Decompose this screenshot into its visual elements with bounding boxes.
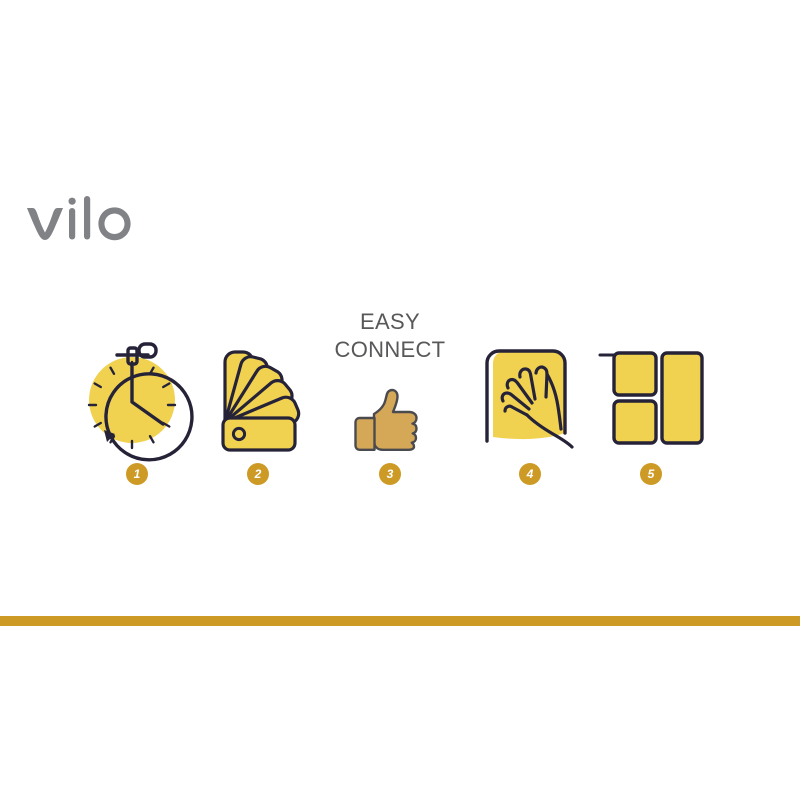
panel-layout-icon	[596, 345, 706, 450]
color-swatch-fan-icon	[203, 330, 313, 450]
thumbs-up-art	[325, 300, 455, 450]
feature-step-5: 5	[586, 300, 716, 500]
color-swatch-art	[193, 300, 323, 450]
step-badge-5: 5	[640, 463, 662, 485]
feature-steps-strip: 1	[70, 300, 730, 500]
stopwatch-art	[72, 300, 202, 450]
step-badge-2: 2	[247, 463, 269, 485]
vilo-wordmark-icon	[24, 196, 194, 256]
feature-step-4: 4	[465, 300, 595, 500]
hand-wipe-art	[465, 300, 595, 450]
feature-step-1: 1	[72, 300, 202, 500]
stopwatch-icon	[82, 330, 192, 450]
hand-wipe-icon	[475, 345, 585, 450]
feature-step-2: 2	[193, 300, 323, 500]
gold-accent-bar	[0, 616, 800, 626]
panel-layout-art	[586, 300, 716, 450]
feature-step-3: EASY CONNECT 3	[325, 300, 455, 500]
thumbs-up-icon	[350, 388, 430, 450]
step-badge-3: 3	[379, 463, 401, 485]
step-badge-4: 4	[519, 463, 541, 485]
step-badge-1: 1	[126, 463, 148, 485]
page-canvas: 1	[0, 0, 800, 800]
brand-logo	[24, 196, 194, 256]
